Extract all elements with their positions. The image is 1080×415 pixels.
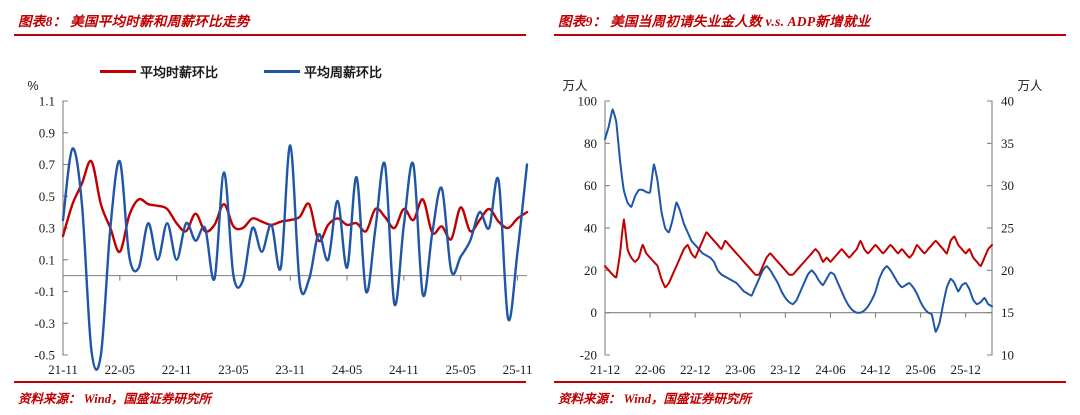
x-tick-label: 23-12 <box>770 362 800 377</box>
y-tick-label: 80 <box>584 136 597 151</box>
y-tick-label: -0.5 <box>34 348 55 363</box>
y2-axis-unit: 万人 <box>1017 79 1043 93</box>
x-tick-label: 25-12 <box>951 362 981 377</box>
x-tick-label: 24-12 <box>860 362 890 377</box>
y2-tick-label: 10 <box>1001 348 1014 363</box>
figure-8-source-divider <box>14 381 526 383</box>
y-tick-label: -0.1 <box>34 284 55 299</box>
x-tick-label: 25-06 <box>905 362 936 377</box>
y-tick-label: 0.3 <box>39 221 55 236</box>
figure-9-chart: 100806040200-20万人40353025201510万人21-1222… <box>540 0 1080 415</box>
x-tick-label: 25-05 <box>446 362 476 377</box>
y-tick-label: 60 <box>584 178 597 193</box>
x-tick-label: 22-05 <box>105 362 135 377</box>
y-tick-label: 20 <box>584 263 597 278</box>
figure-8-panel: 图表8： 美国平均时薪和周薪环比走势 平均时薪环比 平均周薪环比 1.10.90… <box>0 0 540 415</box>
figure-page: 图表8： 美国平均时薪和周薪环比走势 平均时薪环比 平均周薪环比 1.10.90… <box>0 0 1080 415</box>
figure-9-source-divider <box>554 381 1066 383</box>
y-tick-label: 0.7 <box>39 157 56 172</box>
y-tick-label: -20 <box>580 348 597 363</box>
x-tick-label: 24-11 <box>389 362 419 377</box>
x-tick-label: 24-05 <box>332 362 362 377</box>
y2-tick-label: 35 <box>1001 136 1014 151</box>
x-tick-label: 23-11 <box>275 362 305 377</box>
y-axis-unit: 万人 <box>562 79 588 93</box>
y2-tick-label: 20 <box>1001 263 1014 278</box>
y2-tick-label: 25 <box>1001 221 1014 236</box>
x-tick-label: 22-06 <box>635 362 666 377</box>
y2-tick-label: 40 <box>1001 94 1014 109</box>
x-tick-label: 25-11 <box>503 362 533 377</box>
y-tick-label: 0.9 <box>39 125 55 140</box>
figure-9-panel: 图表9： 美国当周初请失业金人数 v.s. ADP新增就业 新增ADP就业人数 … <box>540 0 1080 415</box>
y2-tick-label: 15 <box>1001 305 1014 320</box>
y-tick-label: 0.5 <box>39 189 55 204</box>
y2-tick-label: 30 <box>1001 178 1014 193</box>
figure-9-source: 资料来源： Wind，国盛证券研究所 <box>558 388 751 407</box>
y-tick-label: 40 <box>584 221 597 236</box>
series-line <box>605 109 992 331</box>
y-tick-label: 100 <box>578 94 598 109</box>
figure-8-source: 资料来源： Wind，国盛证券研究所 <box>18 388 211 407</box>
series-line <box>605 220 992 288</box>
x-tick-label: 24-06 <box>815 362 846 377</box>
y-tick-label: 1.1 <box>39 94 55 109</box>
x-tick-label: 22-11 <box>162 362 192 377</box>
x-tick-label: 22-12 <box>680 362 710 377</box>
y-axis-unit: % <box>27 79 38 93</box>
x-tick-label: 23-05 <box>218 362 248 377</box>
y-tick-label: 0.1 <box>39 252 55 267</box>
x-tick-label: 21-11 <box>48 362 78 377</box>
y-tick-label: -0.3 <box>34 316 55 331</box>
x-tick-label: 23-06 <box>725 362 756 377</box>
figure-8-chart: 1.10.90.70.50.30.1-0.1-0.3-0.5%21-1122-0… <box>0 0 540 415</box>
y-tick-label: 0 <box>591 305 598 320</box>
series-line <box>63 145 527 369</box>
x-tick-label: 21-12 <box>590 362 620 377</box>
